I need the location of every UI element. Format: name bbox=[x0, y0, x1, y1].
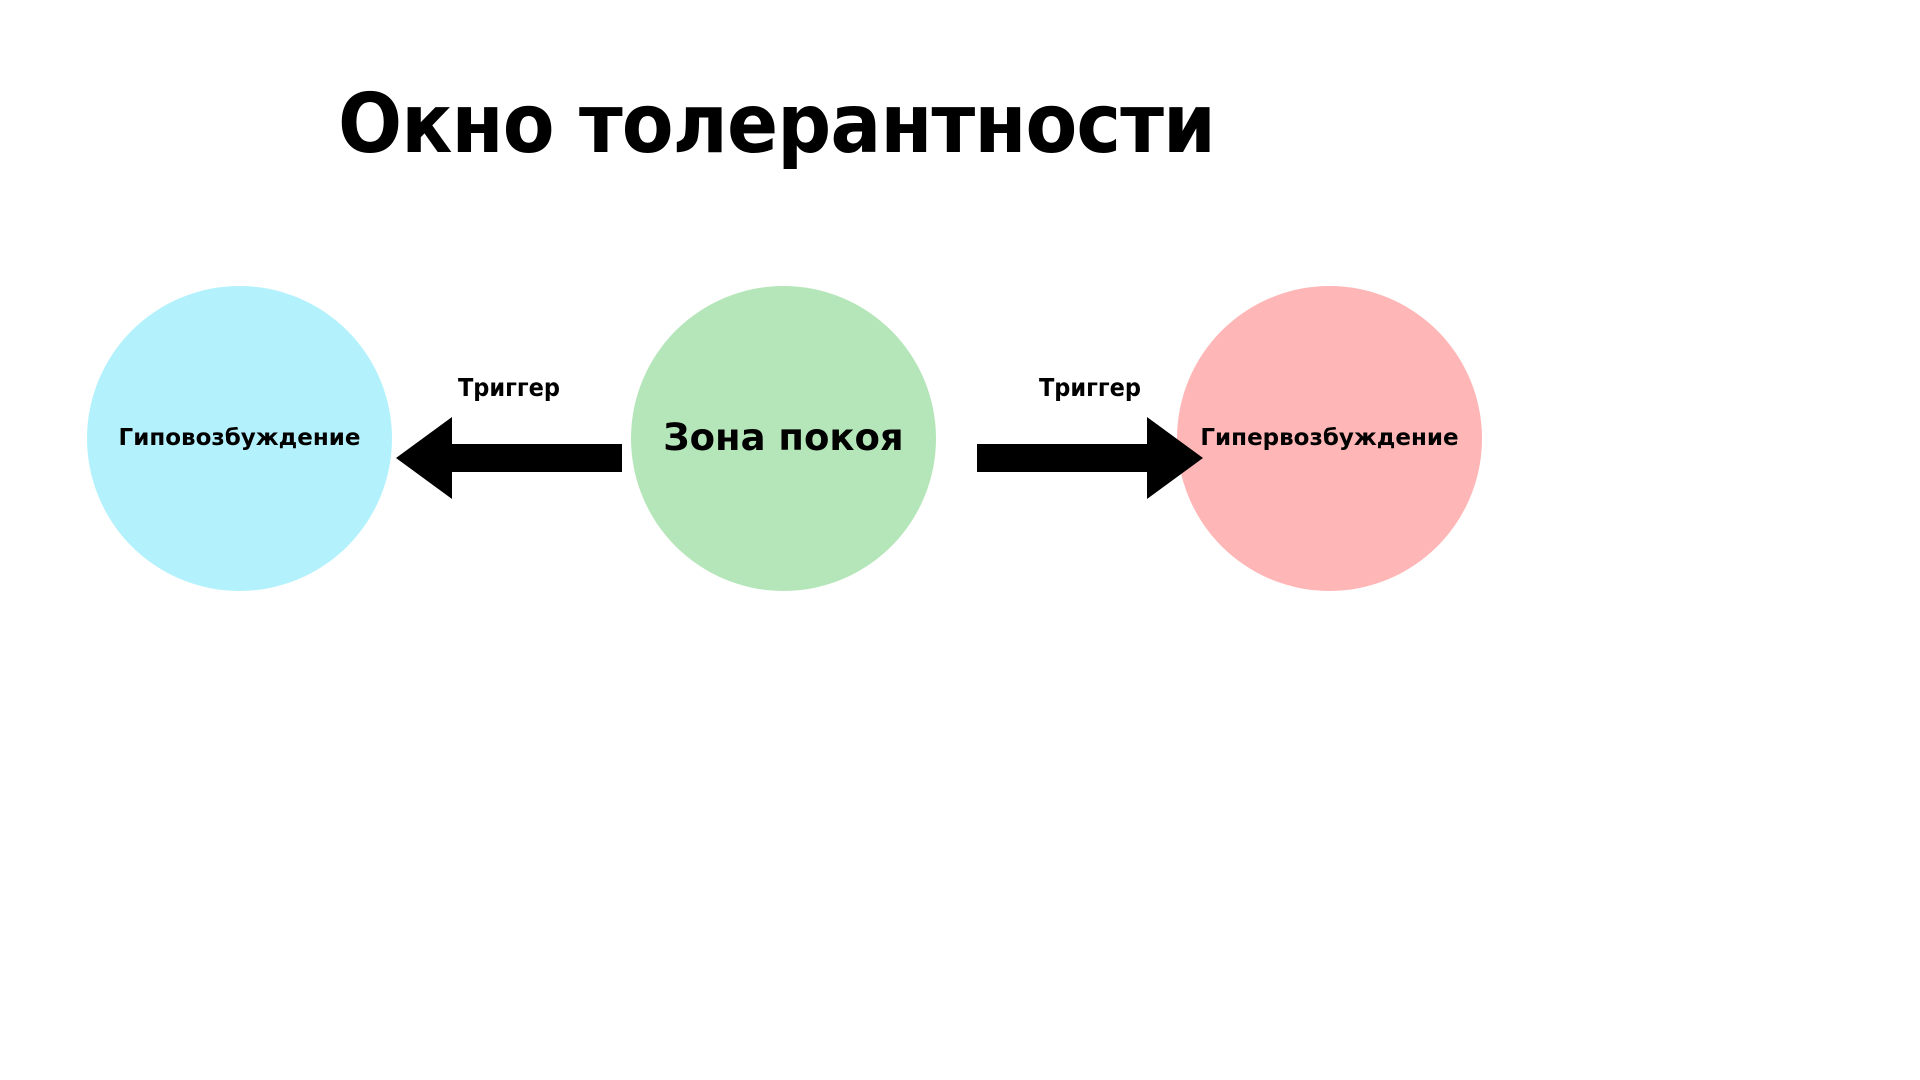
arrow-left-icon bbox=[396, 414, 622, 502]
edge-calm-to-hyperarousal-label: Триггер bbox=[988, 373, 1191, 402]
arrow-right-icon bbox=[977, 414, 1203, 502]
node-hyperarousal[interactable]: Гипервозбуждение bbox=[1177, 286, 1482, 591]
diagram-canvas: Окно толерантности Гиповозбуждение Зона … bbox=[0, 0, 1920, 1080]
node-calm-zone[interactable]: Зона покоя bbox=[631, 286, 936, 591]
node-hyperarousal-label: Гипервозбуждение bbox=[1200, 426, 1458, 451]
edge-calm-to-hypoarousal-label: Триггер bbox=[407, 373, 610, 402]
edge-calm-to-hypoarousal: Триггер bbox=[396, 370, 622, 510]
node-hypoarousal-label: Гиповозбуждение bbox=[119, 426, 361, 451]
page-title: Окно толерантности bbox=[62, 84, 1491, 166]
edge-calm-to-hyperarousal: Триггер bbox=[977, 370, 1203, 510]
node-hypoarousal[interactable]: Гиповозбуждение bbox=[87, 286, 392, 591]
node-calm-zone-label: Зона покоя bbox=[663, 418, 903, 459]
